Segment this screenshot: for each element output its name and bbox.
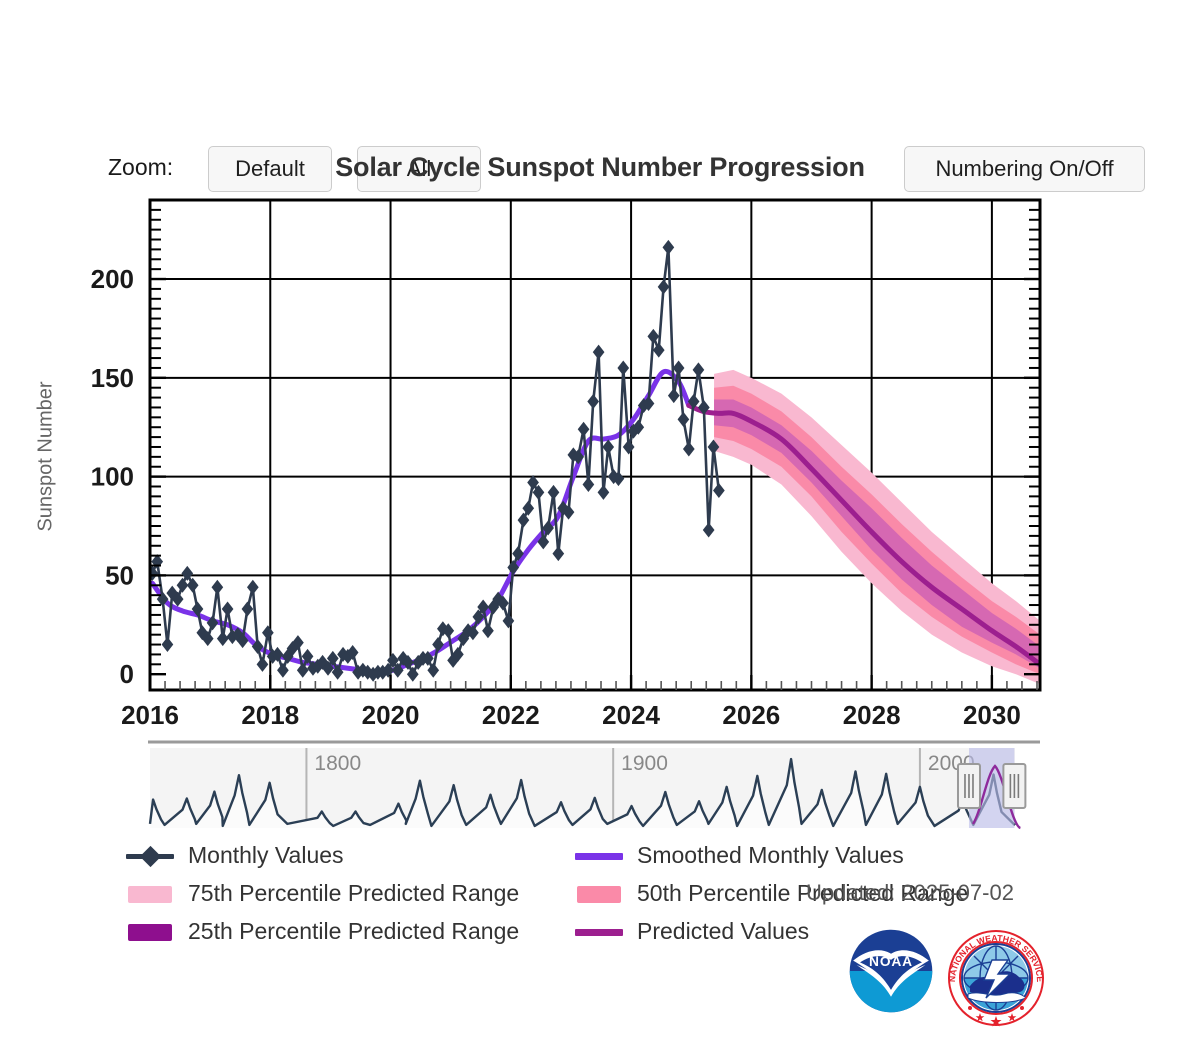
monthly-value-point [663, 240, 675, 255]
monthly-value-point [552, 546, 564, 561]
predicted-values-line [689, 405, 1040, 664]
monthly-value-point [422, 651, 434, 666]
monthly-value-point [542, 520, 554, 535]
monthly-value-point [337, 647, 349, 662]
legend-label: Monthly Values [188, 842, 344, 869]
x-tick-label: 2030 [963, 700, 1021, 730]
y-tick-label: 100 [91, 462, 134, 492]
monthly-values-markers [147, 240, 725, 682]
monthly-value-point [302, 649, 314, 664]
monthly-value-point [227, 629, 239, 644]
x-tick-label: 2022 [482, 700, 540, 730]
legend-item-monthly-values[interactable]: Monthly Values [126, 842, 344, 869]
monthly-value-point [307, 661, 319, 676]
monthly-value-point [708, 439, 720, 454]
legend-item-25th-percentile[interactable]: 25th Percentile Predicted Range [126, 918, 519, 945]
monthly-value-point [252, 639, 264, 654]
monthly-value-point [693, 362, 705, 377]
monthly-value-point [157, 592, 169, 607]
monthly-value-point [653, 343, 665, 358]
monthly-value-point [257, 657, 269, 672]
monthly-value-point [172, 592, 184, 607]
monthly-value-point [352, 665, 364, 680]
y-axis-title: Sunspot Number [35, 347, 58, 567]
monthly-value-point [583, 477, 595, 492]
legend-label: Predicted Values [637, 918, 809, 945]
monthly-value-point [503, 613, 515, 628]
monthly-value-point [617, 360, 629, 375]
nws-logo-icon: NATIONAL WEATHER SERVICE [946, 928, 1046, 1028]
legend-item-smoothed-monthly-values[interactable]: Smoothed Monthly Values [575, 842, 904, 869]
monthly-value-point [568, 447, 580, 462]
monthly-value-point [638, 398, 650, 413]
monthly-value-point [602, 439, 614, 454]
monthly-value-point [292, 635, 304, 650]
monthly-value-point [593, 345, 605, 360]
navigator-gridline-label: 1900 [621, 752, 668, 775]
monthly-value-point [417, 651, 429, 666]
monthly-value-point [196, 625, 208, 640]
monthly-value-point [452, 647, 464, 662]
legend-label: 25th Percentile Predicted Range [188, 918, 519, 945]
monthly-value-point [277, 663, 289, 678]
smoothed-monthly-line [152, 371, 688, 672]
monthly-value-point [317, 655, 329, 670]
prediction-band-25 [714, 400, 1040, 669]
monthly-value-point [242, 601, 254, 616]
monthly-value-point [477, 600, 489, 615]
agency-logos: NOAA NATIONAL WEATHER SERVICE [848, 928, 1058, 1048]
x-tick-label: 2028 [843, 700, 901, 730]
monthly-value-point [673, 360, 685, 375]
navigator-gridline-label: 2000 [928, 752, 975, 775]
monthly-values-line [152, 247, 718, 674]
monthly-value-point [467, 625, 479, 640]
monthly-value-point [492, 592, 504, 607]
noaa-logo-icon: NOAA [848, 928, 934, 1014]
monthly-value-point [432, 637, 444, 652]
monthly-value-point [537, 534, 549, 549]
monthly-value-point [462, 623, 474, 638]
monthly-value-point [222, 601, 234, 616]
monthly-value-point [497, 596, 509, 611]
monthly-value-point [598, 485, 610, 500]
y-tick-label: 0 [120, 659, 134, 689]
updated-timestamp: Updated: 2025-07-02 [806, 880, 1014, 906]
pct50-swatch-icon [575, 881, 623, 907]
navigator-prediction-tail [973, 766, 1020, 828]
monthly-value-point [613, 471, 625, 486]
monthly-value-point [533, 485, 545, 500]
monthly-value-point [217, 631, 229, 646]
monthly-value-point [623, 439, 635, 454]
monthly-value-point [643, 396, 655, 411]
navigator-selection-region[interactable] [969, 748, 1014, 828]
monthly-value-point [482, 623, 494, 638]
monthly-value-point [518, 513, 530, 528]
monthly-value-point [367, 667, 379, 682]
monthly-value-point [147, 566, 159, 581]
monthly-value-point [698, 400, 710, 415]
monthly-value-point [322, 661, 334, 676]
predicted-line-marker-icon [575, 919, 623, 945]
y-tick-label: 50 [105, 560, 134, 590]
legend-label: 75th Percentile Predicted Range [188, 880, 519, 907]
monthly-value-point [507, 560, 519, 575]
plot-frame [150, 200, 1040, 690]
x-tick-label: 2024 [602, 700, 660, 730]
monthly-value-point [287, 641, 299, 656]
monthly-value-point [427, 663, 439, 678]
prediction-band-75 [714, 370, 1040, 684]
monthly-value-point [247, 580, 259, 595]
monthly-value-point [572, 449, 584, 464]
navigator-background [150, 748, 1015, 828]
monthly-value-point [267, 649, 279, 664]
monthly-value-point [262, 625, 274, 640]
legend-item-predicted-values[interactable]: Predicted Values [575, 918, 809, 945]
monthly-value-point [187, 578, 199, 593]
zoom-toolbar: Zoom: Default All Numbering On/Off [0, 70, 1200, 130]
monthly-value-point [357, 663, 369, 678]
monthly-value-point [272, 647, 284, 662]
monthly-value-point [151, 554, 163, 569]
plot-background [150, 200, 1040, 690]
monthly-value-point [387, 653, 399, 668]
y-tick-label: 150 [91, 363, 134, 393]
legend-item-75th-percentile[interactable]: 75th Percentile Predicted Range [126, 880, 519, 907]
page-title: Solar Cycle Sunspot Number Progression [0, 152, 1200, 183]
monthly-value-point [282, 649, 294, 664]
monthly-value-point [668, 388, 680, 403]
monthly-value-point [181, 566, 193, 581]
monthly-value-point [372, 665, 384, 680]
monthly-value-point [166, 586, 178, 601]
monthly-value-point [362, 665, 374, 680]
monthly-value-point [212, 580, 224, 595]
monthly-value-point [527, 475, 539, 490]
x-tick-label: 2026 [722, 700, 780, 730]
legend-label: Smoothed Monthly Values [637, 842, 904, 869]
monthly-value-point [587, 394, 599, 409]
monthly-value-point [472, 609, 484, 624]
monthly-value-point [397, 651, 409, 666]
monthly-value-point [437, 621, 449, 636]
monthly-value-point [447, 653, 459, 668]
monthly-value-point [297, 663, 309, 678]
monthly-value-point [658, 279, 670, 294]
monthly-value-point [347, 645, 359, 660]
monthly-value-point [407, 667, 419, 682]
monthly-value-point [232, 627, 244, 642]
monthly-value-point [332, 665, 344, 680]
monthly-value-point [442, 623, 454, 638]
navigator-area-fill [150, 759, 1015, 828]
monthly-value-point [488, 600, 500, 615]
monthly-value-point [237, 633, 249, 648]
monthly-value-point [342, 649, 354, 664]
navigator-handle-right[interactable] [1003, 764, 1025, 808]
monthly-value-point [382, 663, 394, 678]
monthly-value-point [703, 522, 715, 537]
monthly-value-point [192, 601, 204, 616]
smoothed-line-marker-icon [575, 843, 623, 869]
monthly-value-point [548, 485, 560, 500]
monthly-value-point [522, 501, 534, 516]
pct75-swatch-icon [126, 881, 174, 907]
monthly-value-point [713, 483, 725, 498]
monthly-value-point [608, 469, 620, 484]
navigator-handle-left[interactable] [958, 764, 980, 808]
monthly-value-point [177, 578, 189, 593]
x-tick-label: 2020 [362, 700, 420, 730]
monthly-value-point [202, 631, 214, 646]
monthly-value-point [412, 655, 424, 670]
prediction-band-50 [714, 386, 1040, 674]
pct25-swatch-icon [126, 919, 174, 945]
y-tick-label: 200 [91, 264, 134, 294]
monthly-value-point [312, 659, 324, 674]
monthly-value-point [678, 412, 690, 427]
monthly-value-point [578, 422, 590, 437]
monthly-value-point [632, 420, 644, 435]
monthly-value-point [683, 441, 695, 456]
monthly-values-marker-icon [126, 843, 174, 869]
monthly-value-point [162, 637, 174, 652]
monthly-value-point [377, 665, 389, 680]
monthly-value-point [207, 615, 219, 630]
monthly-value-point [327, 651, 339, 666]
monthly-value-point [512, 546, 524, 561]
monthly-value-point [563, 505, 575, 520]
monthly-value-point [688, 394, 700, 409]
monthly-value-point [457, 631, 469, 646]
monthly-value-point [628, 424, 640, 439]
monthly-value-point [402, 655, 414, 670]
x-tick-label: 2018 [241, 700, 299, 730]
svg-text:NOAA: NOAA [869, 954, 913, 969]
navigator-series-line [150, 759, 1015, 826]
monthly-value-point [392, 663, 404, 678]
navigator-gridline-label: 1800 [314, 752, 361, 775]
x-tick-label: 2016 [121, 700, 179, 730]
monthly-value-point [647, 329, 659, 344]
monthly-value-point [557, 501, 569, 516]
